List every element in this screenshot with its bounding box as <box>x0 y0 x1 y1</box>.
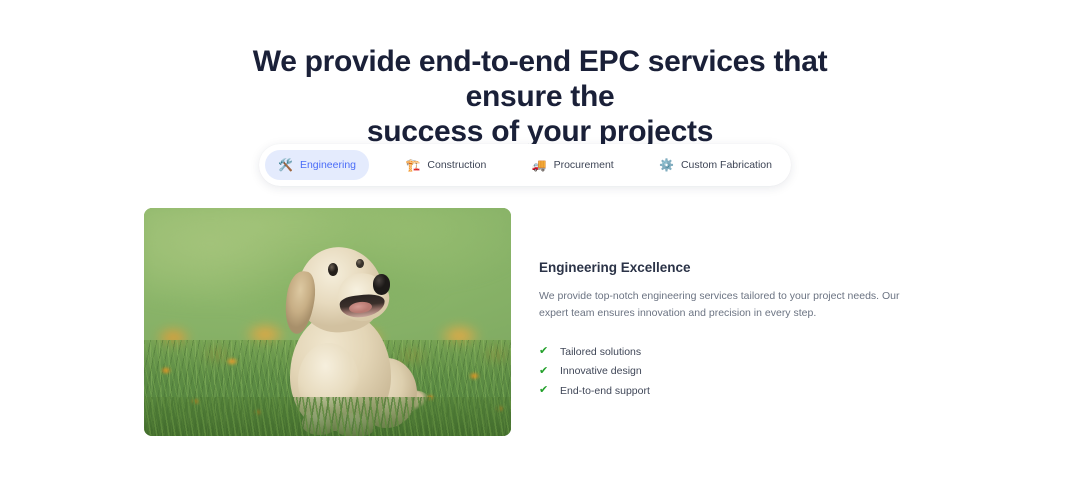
puppy-eye-right <box>356 259 364 268</box>
tab-procurement-label: Procurement <box>554 159 614 171</box>
service-tabs: 🛠️ Engineering 🏗️ Construction 🚚 Procure… <box>259 144 791 186</box>
gear-icon: ⚙️ <box>659 159 674 171</box>
hammer-and-wrench-icon: 🛠️ <box>278 159 293 171</box>
image-foreground-grass <box>144 397 511 436</box>
tab-construction-label: Construction <box>427 159 486 171</box>
epc-services-section: We provide end-to-end EPC services that … <box>0 0 1080 487</box>
tab-procurement[interactable]: 🚚 Procurement <box>519 150 627 180</box>
check-mark-icon: ✔ <box>539 385 551 396</box>
list-item-label: End-to-end support <box>560 385 650 397</box>
page-title-line-2: success of your projects <box>367 115 713 148</box>
tab-engineering[interactable]: 🛠️ Engineering <box>265 150 369 180</box>
check-mark-icon: ✔ <box>539 346 551 357</box>
list-item: ✔ Innovative design <box>539 362 911 382</box>
tab-construction[interactable]: 🏗️ Construction <box>392 150 499 180</box>
delivery-truck-icon: 🚚 <box>532 159 547 171</box>
service-detail-title: Engineering Excellence <box>539 260 911 275</box>
list-item: ✔ Tailored solutions <box>539 342 911 362</box>
list-item-label: Innovative design <box>560 365 642 377</box>
list-item: ✔ End-to-end support <box>539 381 911 401</box>
building-construction-icon: 🏗️ <box>405 159 420 171</box>
service-image <box>144 208 511 436</box>
list-item-label: Tailored solutions <box>560 346 641 358</box>
page-title-line-1: We provide end-to-end EPC services that … <box>253 45 828 113</box>
page-title: We provide end-to-end EPC services that … <box>240 45 840 149</box>
tab-engineering-label: Engineering <box>300 159 356 171</box>
tab-custom-fabrication-label: Custom Fabrication <box>681 159 772 171</box>
service-detail-panel: Engineering Excellence We provide top-no… <box>539 260 911 401</box>
check-mark-icon: ✔ <box>539 366 551 377</box>
puppy-nose <box>373 274 391 294</box>
service-feature-list: ✔ Tailored solutions ✔ Innovative design… <box>539 342 911 401</box>
service-detail-description: We provide top-notch engineering service… <box>539 288 901 322</box>
tab-custom-fabrication[interactable]: ⚙️ Custom Fabrication <box>646 150 785 180</box>
